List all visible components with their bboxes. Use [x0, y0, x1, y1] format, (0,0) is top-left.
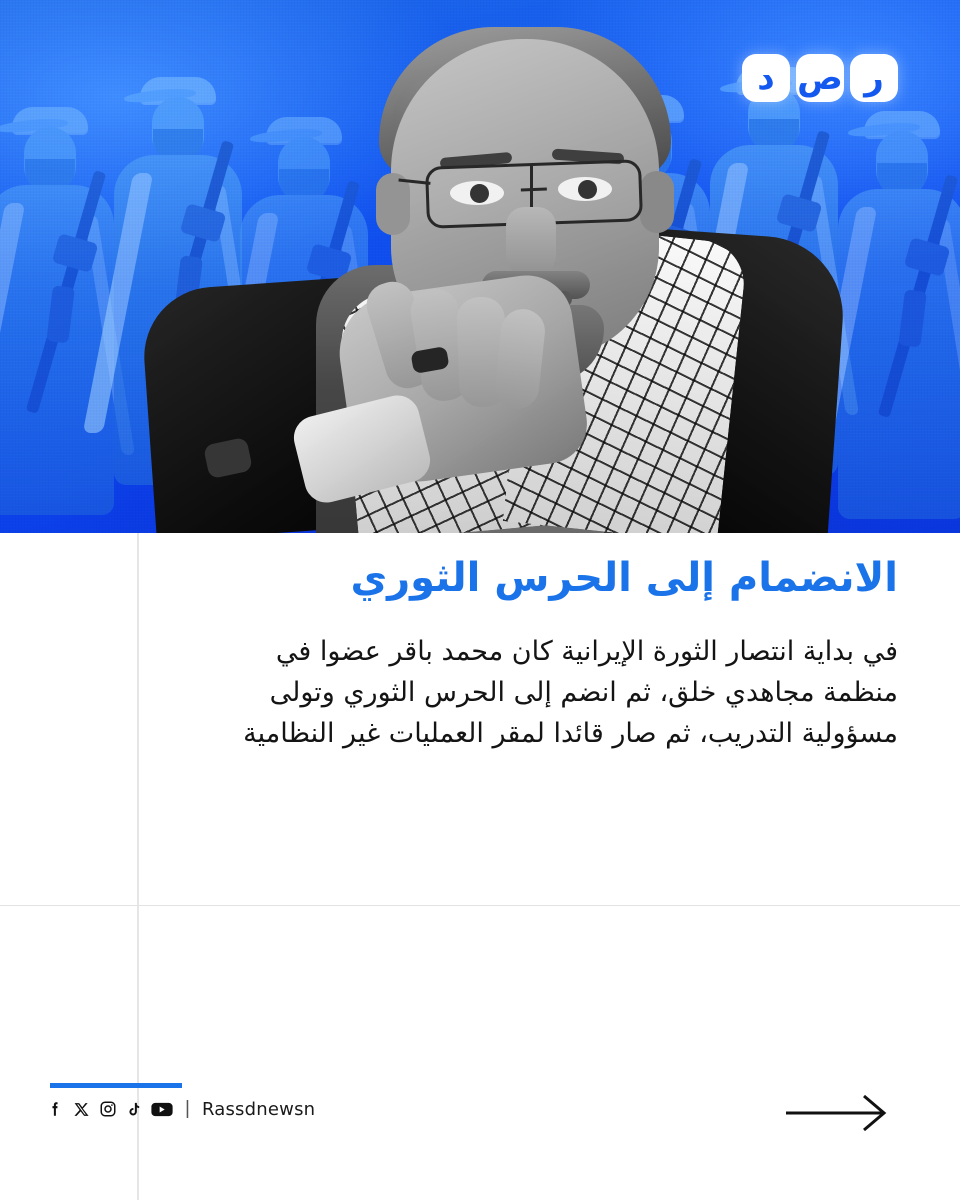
headline: الانضمام إلى الحرس الثوري — [198, 555, 898, 602]
youtube-icon[interactable] — [151, 1101, 173, 1118]
footer-separator: | — [185, 1098, 190, 1120]
horizontal-divider — [0, 905, 960, 906]
social-media-card: د ص ر الانضمام إلى الحرس الثوري في بداية… — [0, 0, 960, 1200]
instagram-icon[interactable] — [99, 1100, 117, 1118]
hero-image: د ص ر — [0, 0, 960, 533]
social-footer: | Rassdnewsn — [46, 1098, 315, 1120]
logo-letter-ra: ر — [850, 54, 898, 102]
logo-letter-sad: ص — [796, 54, 844, 102]
facebook-icon[interactable] — [46, 1100, 64, 1118]
logo-letter-dal: د — [742, 54, 790, 102]
accent-bar — [50, 1083, 182, 1088]
account-handle: Rassdnewsn — [202, 1099, 315, 1120]
next-arrow-icon[interactable] — [784, 1092, 892, 1134]
rassd-logo[interactable]: د ص ر — [742, 54, 898, 102]
body-text: في بداية انتصار الثورة الإيرانية كان محم… — [198, 631, 898, 754]
x-icon[interactable] — [73, 1101, 90, 1118]
portrait-photo — [148, 23, 838, 533]
tiktok-icon[interactable] — [126, 1101, 142, 1118]
